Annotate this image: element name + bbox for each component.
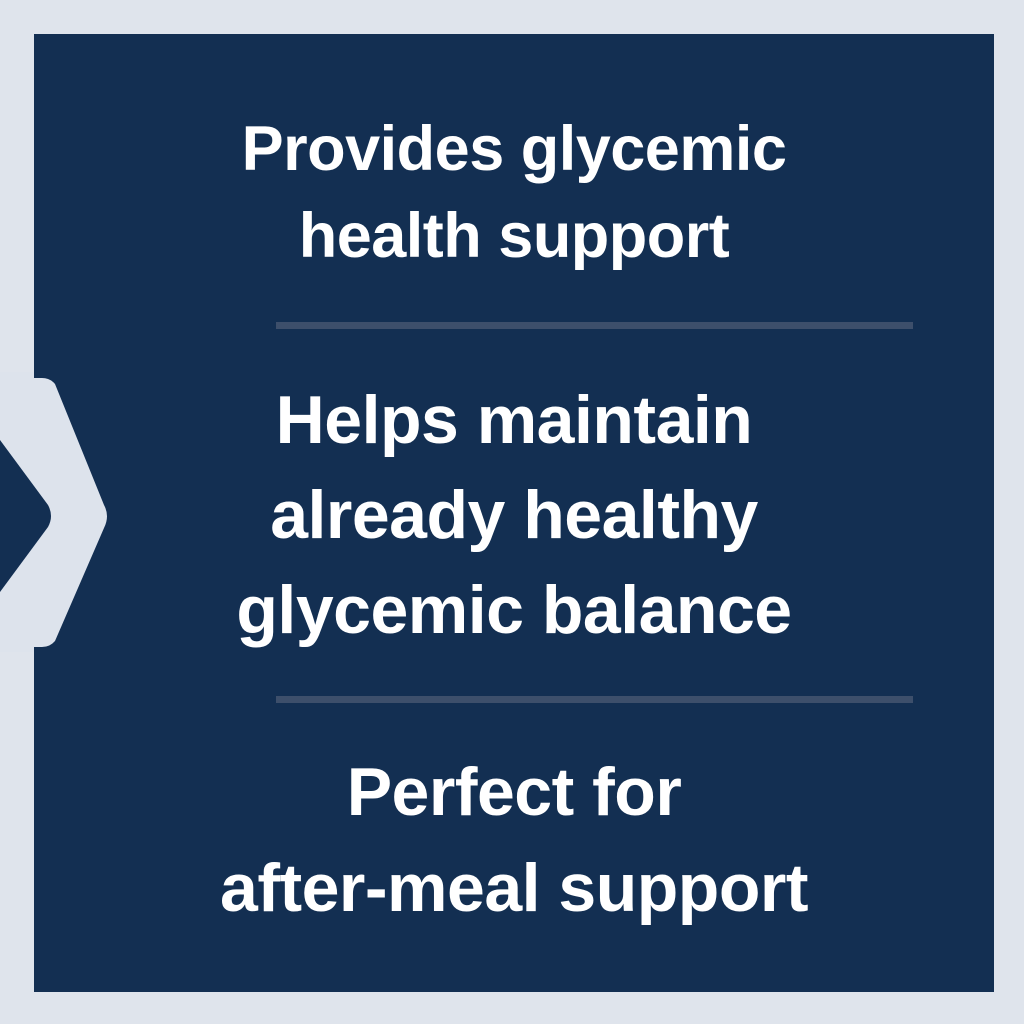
benefits-content-stack: Provides glycemic health support Helps m… [34, 34, 994, 992]
benefit-2-line-2: already healthy [34, 468, 994, 563]
screenshot-canvas: Provides glycemic health support Helps m… [0, 0, 1024, 1024]
benefit-1-line-2: health support [34, 193, 994, 280]
benefit-2-line-1: Helps maintain [34, 373, 994, 468]
benefit-item-3: Perfect for after-meal support [34, 745, 994, 935]
benefit-divider-2 [276, 696, 913, 703]
benefit-3-line-1: Perfect for [34, 745, 994, 840]
benefit-item-2: Helps maintain already healthy glycemic … [34, 373, 994, 659]
benefit-item-1: Provides glycemic health support [34, 106, 994, 280]
benefit-divider-1 [276, 322, 913, 329]
benefit-3-line-2: after-meal support [34, 841, 994, 936]
benefit-2-line-3: glycemic balance [34, 563, 994, 658]
benefit-1-line-1: Provides glycemic [34, 106, 994, 193]
